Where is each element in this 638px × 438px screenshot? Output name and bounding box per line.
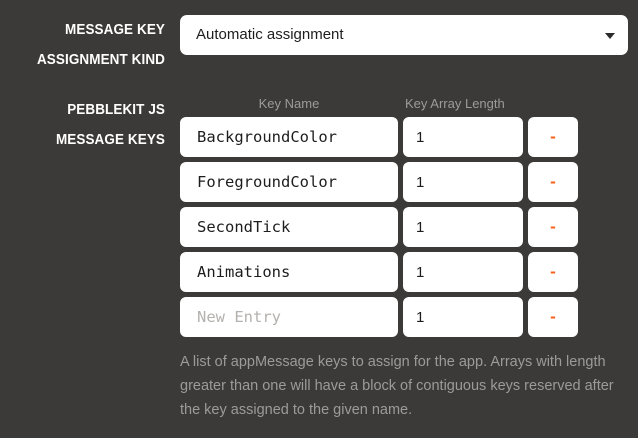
remove-key-button[interactable]: - [528,117,578,157]
message-keys-list: ----- [180,117,628,337]
remove-key-button[interactable]: - [528,162,578,202]
key-array-length-input[interactable] [403,162,523,202]
message-keys-column-headers: Key Name Key Array Length [180,95,628,117]
assignment-kind-select[interactable]: Automatic assignment [180,15,628,55]
remove-key-button[interactable]: - [528,252,578,292]
label-line-1: Message Key [12,15,165,45]
message-keys-help-text: A list of appMessage keys to assign for … [180,350,635,422]
label-line-2: Assignment Kind [12,45,165,75]
pebblekit-js-message-keys-row: PebbleKit JS Message Keys Key Name Key A… [0,95,628,422]
label-line-1: PebbleKit JS [12,95,165,125]
key-name-input[interactable] [180,207,398,247]
key-name-input[interactable] [180,117,398,157]
key-name-input[interactable] [180,252,398,292]
message-key-row: - [180,252,628,292]
message-key-row: - [180,297,628,337]
label-line-2: Message Keys [12,125,165,155]
message-key-assignment-kind-label: Message Key Assignment Kind [0,15,165,75]
remove-key-button[interactable]: - [528,207,578,247]
key-name-input[interactable] [180,297,398,337]
message-key-row: - [180,207,628,247]
key-array-length-input[interactable] [403,207,523,247]
key-array-length-input[interactable] [403,252,523,292]
column-header-key-array-length: Key Array Length [403,95,525,117]
message-key-assignment-kind-row: Message Key Assignment Kind Automatic as… [0,15,628,75]
message-key-row: - [180,162,628,202]
pebblekit-js-message-keys-label: PebbleKit JS Message Keys [0,95,165,155]
key-array-length-input[interactable] [403,117,523,157]
remove-key-button[interactable]: - [528,297,578,337]
message-keys-panel: Key Name Key Array Length ----- A list o… [180,95,628,422]
message-key-row: - [180,117,628,157]
key-name-input[interactable] [180,162,398,202]
assignment-kind-select-wrap[interactable]: Automatic assignment [180,15,628,55]
column-header-key-name: Key Name [180,95,398,117]
key-array-length-input[interactable] [403,297,523,337]
